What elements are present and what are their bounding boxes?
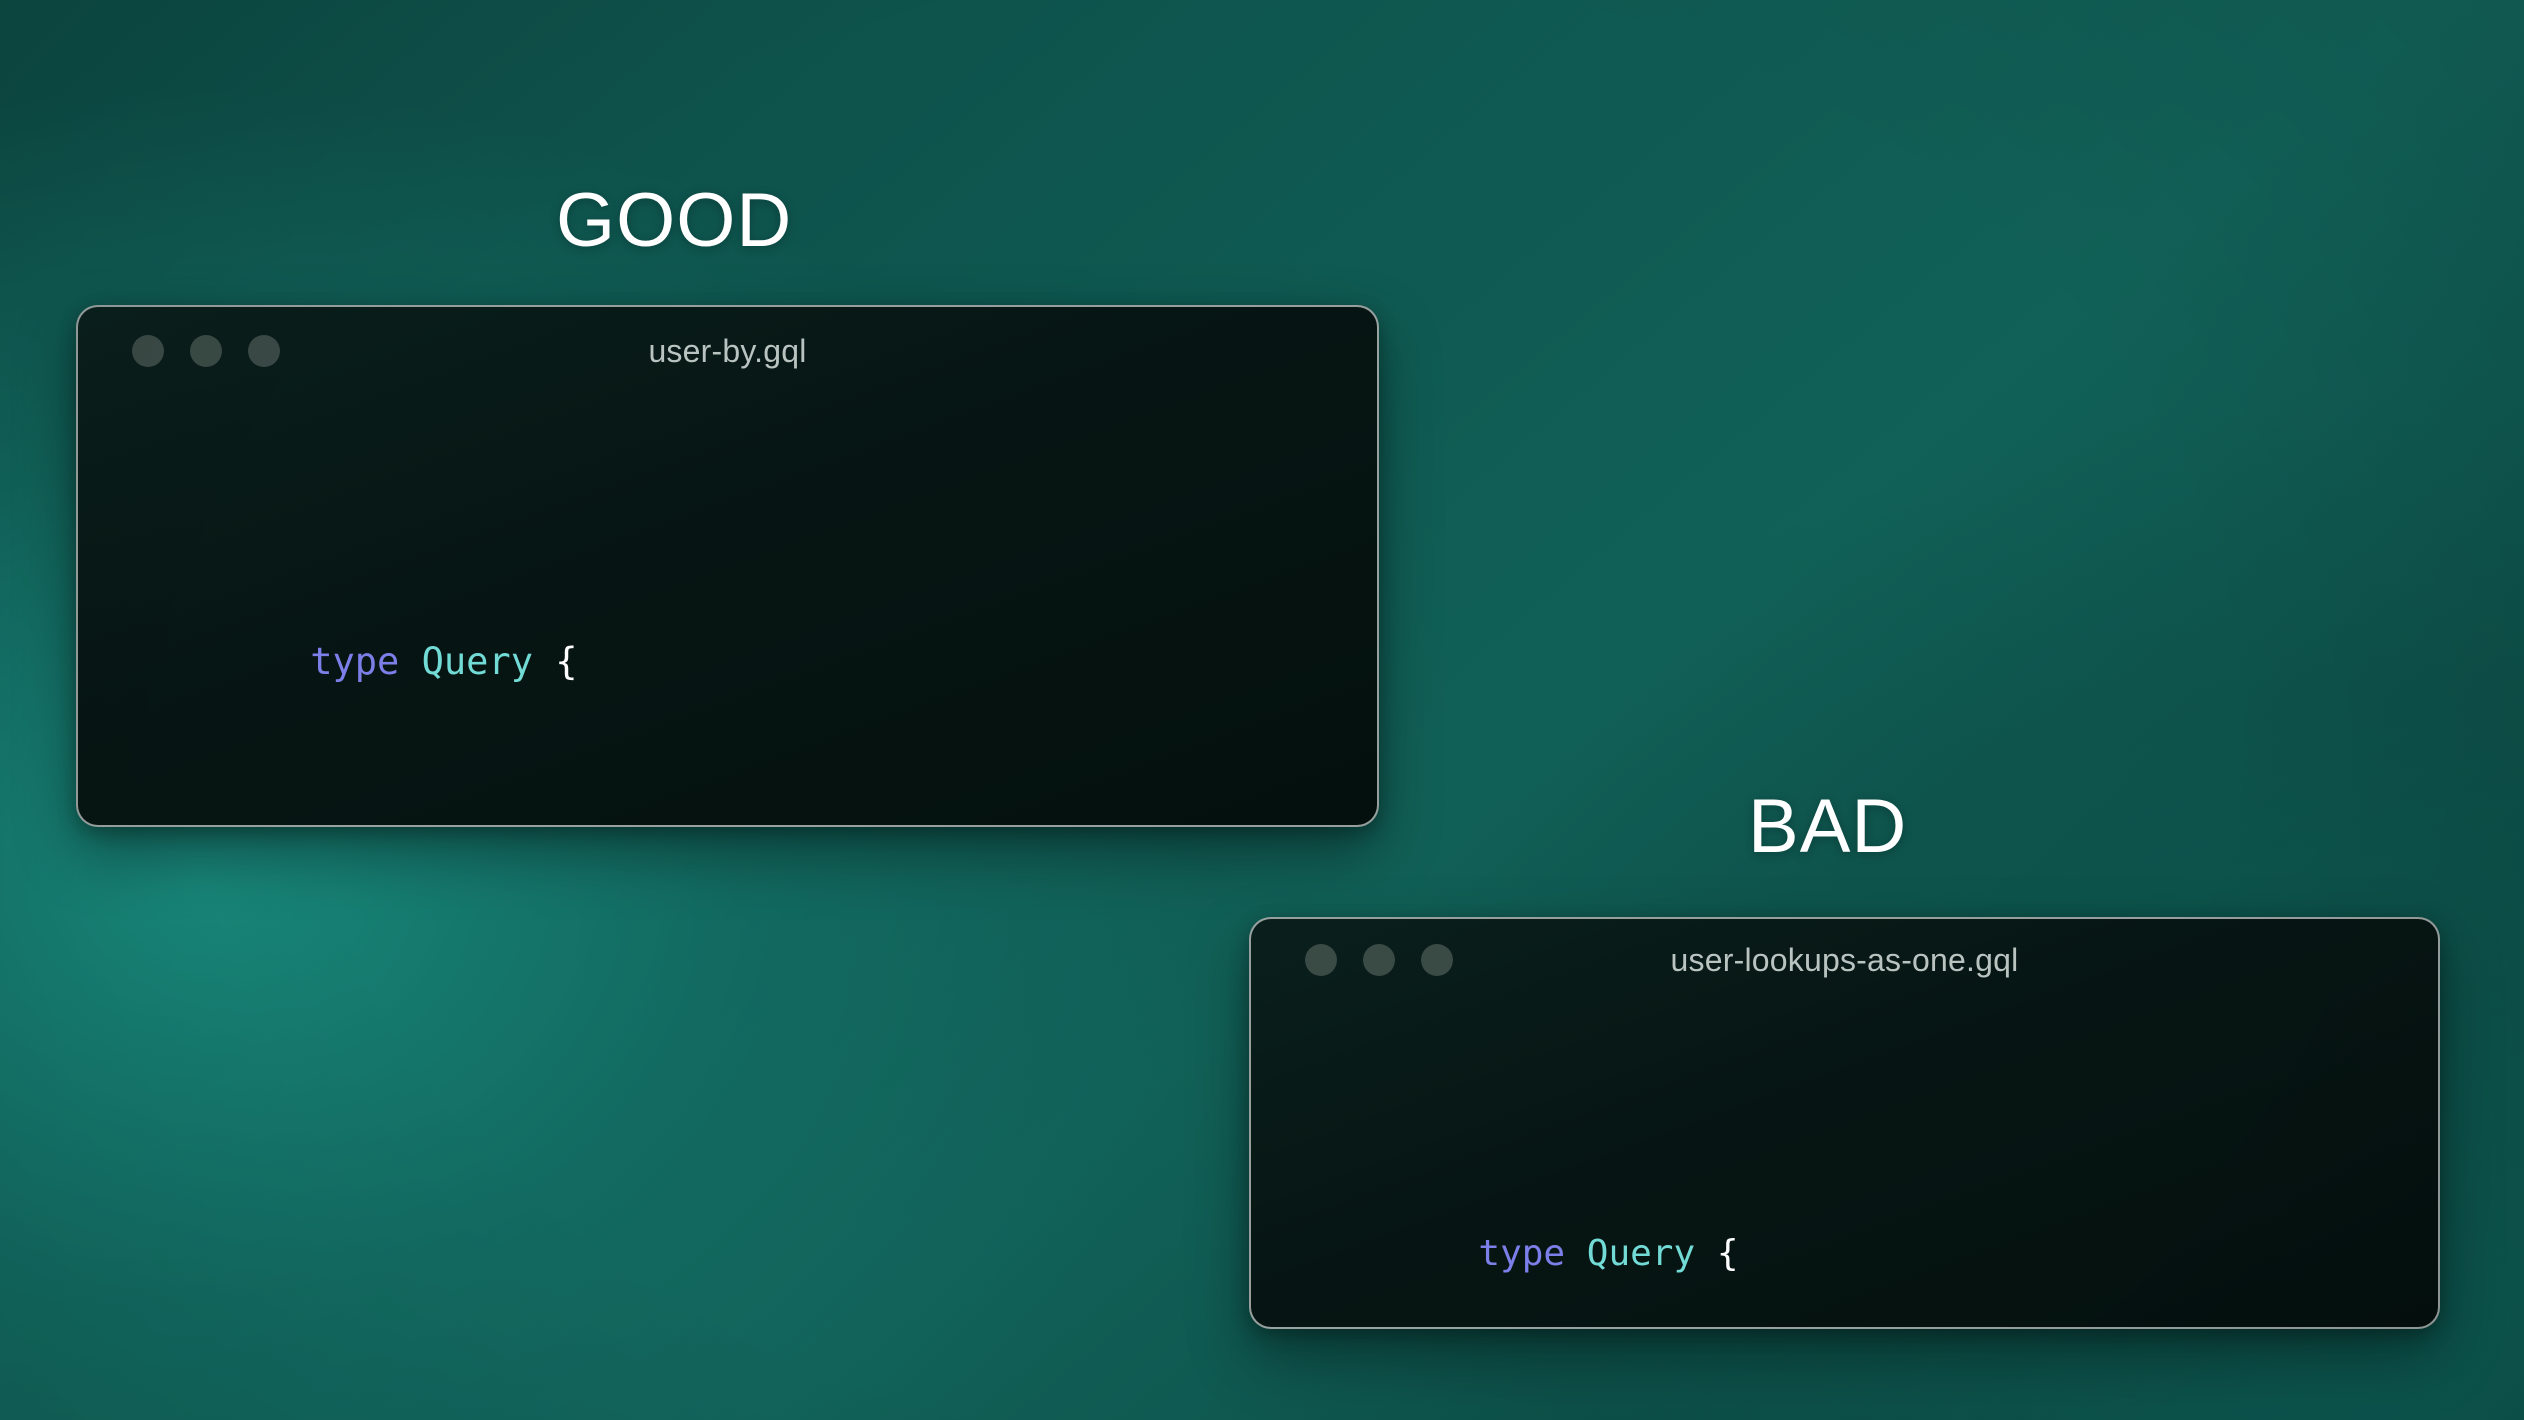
token-space: [399, 640, 421, 683]
code-line: type Query {: [1251, 1149, 2438, 1329]
bad-example-label: BAD: [1748, 789, 1907, 865]
token-punct: {: [533, 640, 578, 683]
good-example-label: GOOD: [556, 183, 792, 259]
token-keyword: type: [1478, 1233, 1565, 1274]
token-punct: {: [1695, 1233, 1738, 1274]
close-dot-icon[interactable]: [1305, 944, 1337, 976]
maximize-dot-icon[interactable]: [1421, 944, 1453, 976]
slide-canvas: GOOD user-by.gql type Query { userByID(i…: [0, 0, 2524, 1420]
token-space: [1565, 1233, 1587, 1274]
window-traffic-lights: [1305, 944, 1453, 976]
code-window-bad: user-lookups-as-one.gql type Query { use…: [1249, 917, 2440, 1329]
code-block-bad: type Query { user(id: ID, ssn: String): …: [1251, 1001, 2438, 1329]
token-type: Query: [422, 640, 533, 683]
minimize-dot-icon[interactable]: [190, 335, 222, 367]
window-titlebar: user-lookups-as-one.gql: [1251, 919, 2438, 1001]
window-titlebar: user-by.gql: [78, 307, 1377, 395]
token-type: Query: [1587, 1233, 1695, 1274]
code-window-good: user-by.gql type Query { userByID(id: ID…: [76, 305, 1379, 827]
window-traffic-lights: [132, 335, 280, 367]
code-line: type Query {: [78, 551, 1377, 773]
maximize-dot-icon[interactable]: [248, 335, 280, 367]
code-block-good: type Query { userByID(id: ID!): User use…: [78, 395, 1377, 827]
close-dot-icon[interactable]: [132, 335, 164, 367]
minimize-dot-icon[interactable]: [1363, 944, 1395, 976]
token-keyword: type: [310, 640, 399, 683]
